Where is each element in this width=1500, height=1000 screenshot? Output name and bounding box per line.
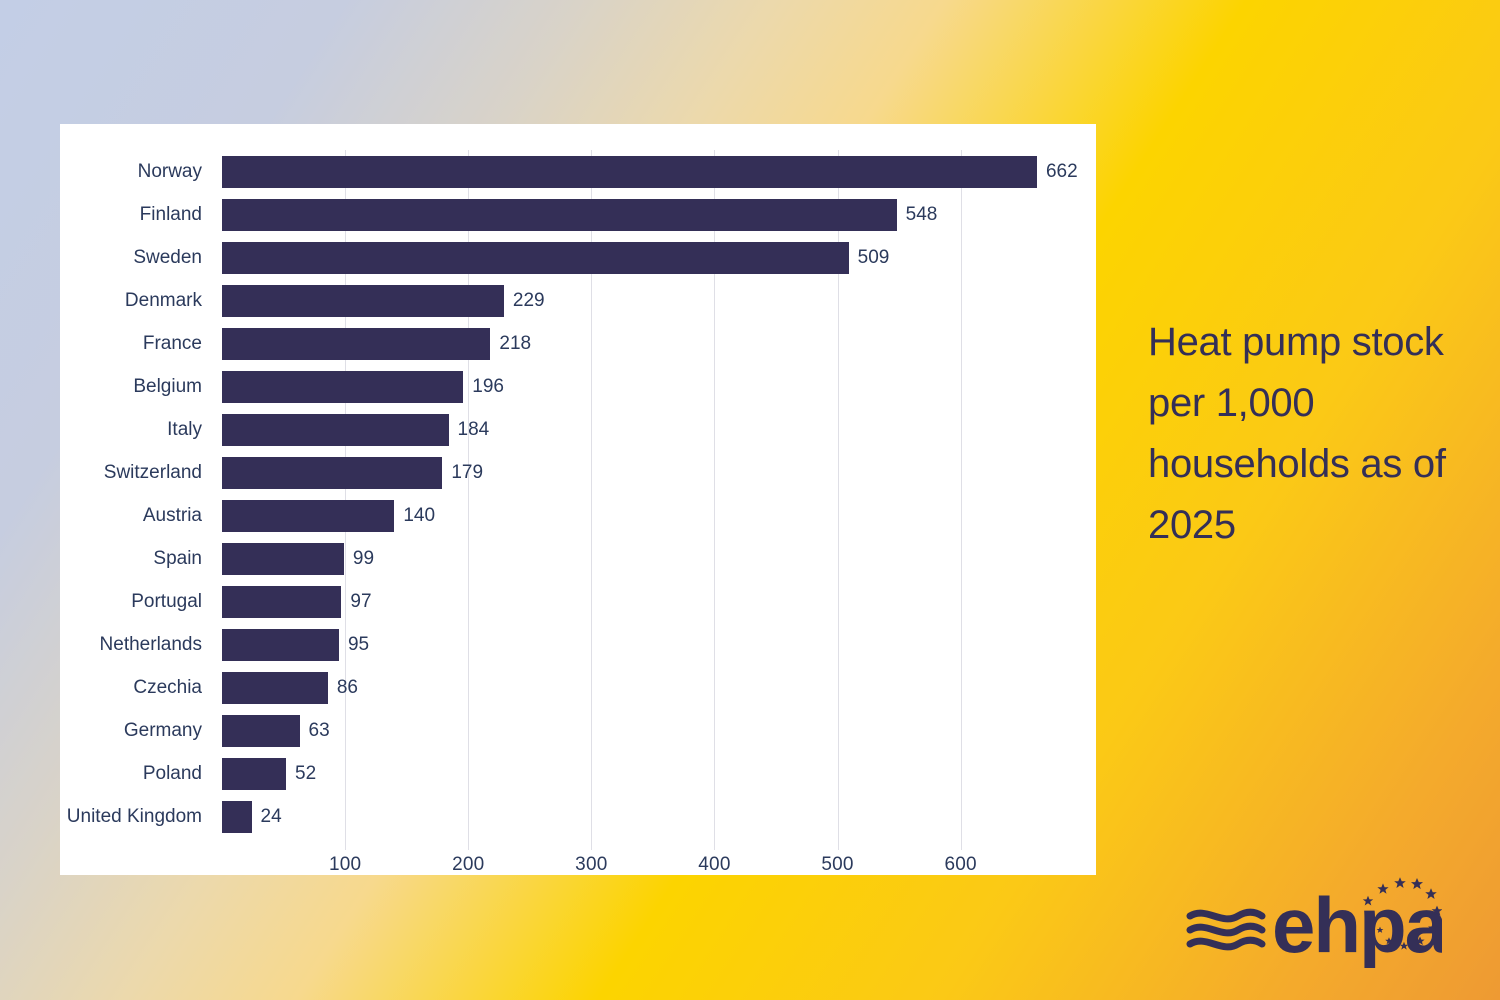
bar-value-label: 548 — [906, 204, 938, 226]
category-label: Czechia — [60, 677, 202, 699]
page-title: Heat pump stock per 1,000 households as … — [1148, 312, 1478, 556]
category-label: Norway — [60, 161, 202, 183]
category-label: Italy — [60, 419, 202, 441]
bar — [222, 629, 339, 661]
bar-value-label: 229 — [513, 290, 545, 312]
bar-row: Switzerland179 — [60, 451, 1096, 494]
bar-row: Portugal97 — [60, 580, 1096, 623]
wave-lines-icon — [1190, 912, 1262, 947]
x-axis-tick-label: 300 — [575, 854, 607, 876]
bar-row: Austria140 — [60, 494, 1096, 537]
bar-value-label: 184 — [458, 419, 490, 441]
bar-row: Norway662 — [60, 150, 1096, 193]
bar — [222, 414, 449, 446]
chart-panel: Norway662Finland548Sweden509Denmark229Fr… — [60, 124, 1096, 875]
bar-row: United Kingdom24 — [60, 795, 1096, 838]
bar-row: Italy184 — [60, 408, 1096, 451]
bar-value-label: 218 — [499, 333, 531, 355]
ehpa-logo: ehpa — [1186, 872, 1442, 976]
category-label: France — [60, 333, 202, 355]
bar-row: Spain99 — [60, 537, 1096, 580]
bar-row: Czechia86 — [60, 666, 1096, 709]
bar — [222, 156, 1037, 188]
bar — [222, 543, 344, 575]
bar — [222, 328, 490, 360]
bar-row: Poland52 — [60, 752, 1096, 795]
bar — [222, 672, 328, 704]
bar-row: France218 — [60, 322, 1096, 365]
bar-row: Germany63 — [60, 709, 1096, 752]
bar-row: Belgium196 — [60, 365, 1096, 408]
bar — [222, 500, 394, 532]
bar — [222, 758, 286, 790]
bar — [222, 371, 463, 403]
category-label: Germany — [60, 720, 202, 742]
bar-value-label: 63 — [309, 720, 330, 742]
x-axis-tick-label: 100 — [329, 854, 361, 876]
bar — [222, 457, 442, 489]
x-axis-tick-label: 500 — [821, 854, 853, 876]
category-label: Denmark — [60, 290, 202, 312]
category-label: Netherlands — [60, 634, 202, 656]
category-label: Portugal — [60, 591, 202, 613]
bar-value-label: 95 — [348, 634, 369, 656]
x-axis-tick-label: 400 — [698, 854, 730, 876]
bar-value-label: 662 — [1046, 161, 1078, 183]
bar — [222, 586, 341, 618]
category-label: Sweden — [60, 247, 202, 269]
bar-value-label: 24 — [261, 806, 282, 828]
category-label: Poland — [60, 763, 202, 785]
bar — [222, 715, 300, 747]
bar-value-label: 509 — [858, 247, 890, 269]
category-label: Switzerland — [60, 462, 202, 484]
category-label: Belgium — [60, 376, 202, 398]
bar-row: Finland548 — [60, 193, 1096, 236]
bar-row: Sweden509 — [60, 236, 1096, 279]
bar-chart-plot-area: Norway662Finland548Sweden509Denmark229Fr… — [60, 124, 1096, 875]
bar-value-label: 140 — [403, 505, 435, 527]
bar-row: Netherlands95 — [60, 623, 1096, 666]
category-label: Spain — [60, 548, 202, 570]
bar-value-label: 99 — [353, 548, 374, 570]
bar — [222, 199, 897, 231]
bar — [222, 801, 252, 833]
ehpa-wordmark: ehpa — [1272, 881, 1442, 969]
x-axis-tick-label: 600 — [945, 854, 977, 876]
x-axis-tick-label: 200 — [452, 854, 484, 876]
bar-value-label: 97 — [350, 591, 371, 613]
bar-value-label: 52 — [295, 763, 316, 785]
bar-value-label: 179 — [451, 462, 483, 484]
bar — [222, 242, 849, 274]
category-label: United Kingdom — [60, 806, 202, 828]
bar — [222, 285, 504, 317]
bar-value-label: 196 — [472, 376, 504, 398]
bar-row: Denmark229 — [60, 279, 1096, 322]
bar-value-label: 86 — [337, 677, 358, 699]
category-label: Austria — [60, 505, 202, 527]
category-label: Finland — [60, 204, 202, 226]
